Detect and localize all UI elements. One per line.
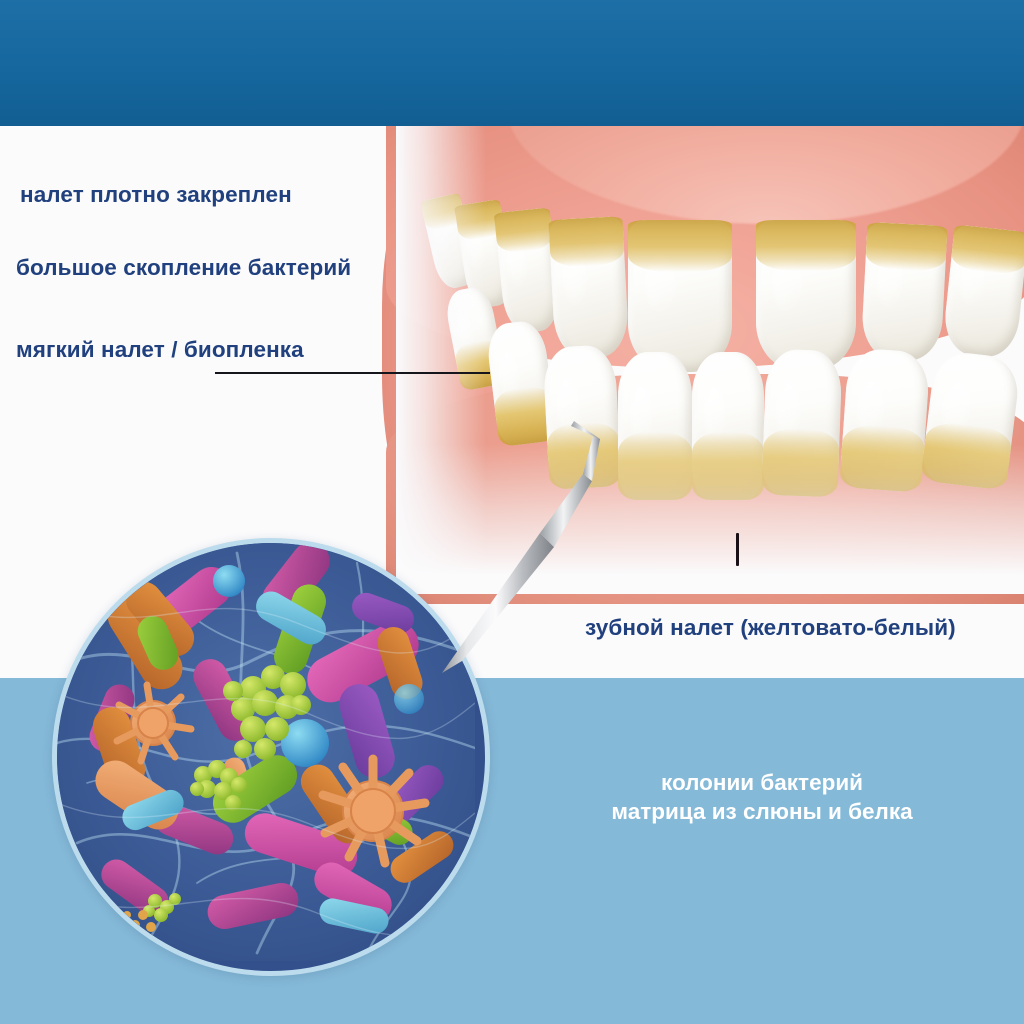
tooth-highlight xyxy=(630,385,652,444)
top-blue-banner xyxy=(0,0,1024,126)
infographic-canvas: налет плотно закреплен большое скопление… xyxy=(0,0,1024,1024)
bottom-panel-caption: колонии бактерий матрица из слюны и белк… xyxy=(512,768,1012,826)
tooth-highlight xyxy=(431,217,451,256)
leader-line-to-plaque xyxy=(215,372,490,374)
upper-tooth xyxy=(548,216,629,360)
tooth-highlight xyxy=(497,349,520,400)
bottom-panel-line-2: матрица из слюны и белка xyxy=(512,797,1012,826)
tooth-highlight xyxy=(505,237,527,287)
tooth-highlight xyxy=(645,253,676,314)
tooth-highlight xyxy=(454,311,475,353)
tick-mark-to-plaque xyxy=(736,533,739,566)
biofilm-artwork xyxy=(57,543,475,961)
probe-bend xyxy=(583,436,600,481)
tooth-highlight xyxy=(940,380,972,436)
probe-tip xyxy=(571,421,600,439)
label-plaque-firmly-attached: налет плотно закреплен xyxy=(20,182,292,208)
label-dental-plaque-color: зубной налет (желтовато-белый) xyxy=(585,615,956,641)
lower-tooth xyxy=(692,352,764,500)
biofilm-magnified-circle xyxy=(52,538,490,976)
tooth-highlight xyxy=(562,249,587,306)
upper-central-incisor xyxy=(756,220,856,370)
upper-tooth xyxy=(860,222,947,362)
bottom-panel-line-1: колонии бактерий xyxy=(512,768,1012,797)
upper-central-incisor xyxy=(628,220,732,372)
tooth-highlight xyxy=(465,226,485,270)
label-soft-plaque-biofilm: мягкий налет / биопленка xyxy=(16,337,304,363)
lower-tooth xyxy=(839,347,931,492)
tooth-highlight xyxy=(958,254,985,307)
label-large-bacteria-accumulation: большое скопление бактерий xyxy=(16,255,351,281)
tooth-highlight xyxy=(772,253,802,313)
probe-shank xyxy=(540,474,592,547)
lower-tooth xyxy=(761,349,842,498)
upper-tooth xyxy=(942,224,1024,359)
tooth-highlight xyxy=(856,379,884,437)
tooth-highlight xyxy=(876,253,903,309)
probe-handle xyxy=(442,533,554,673)
tooth-highlight xyxy=(776,381,801,440)
tooth-highlight xyxy=(704,385,726,444)
lower-tooth xyxy=(920,349,1021,490)
